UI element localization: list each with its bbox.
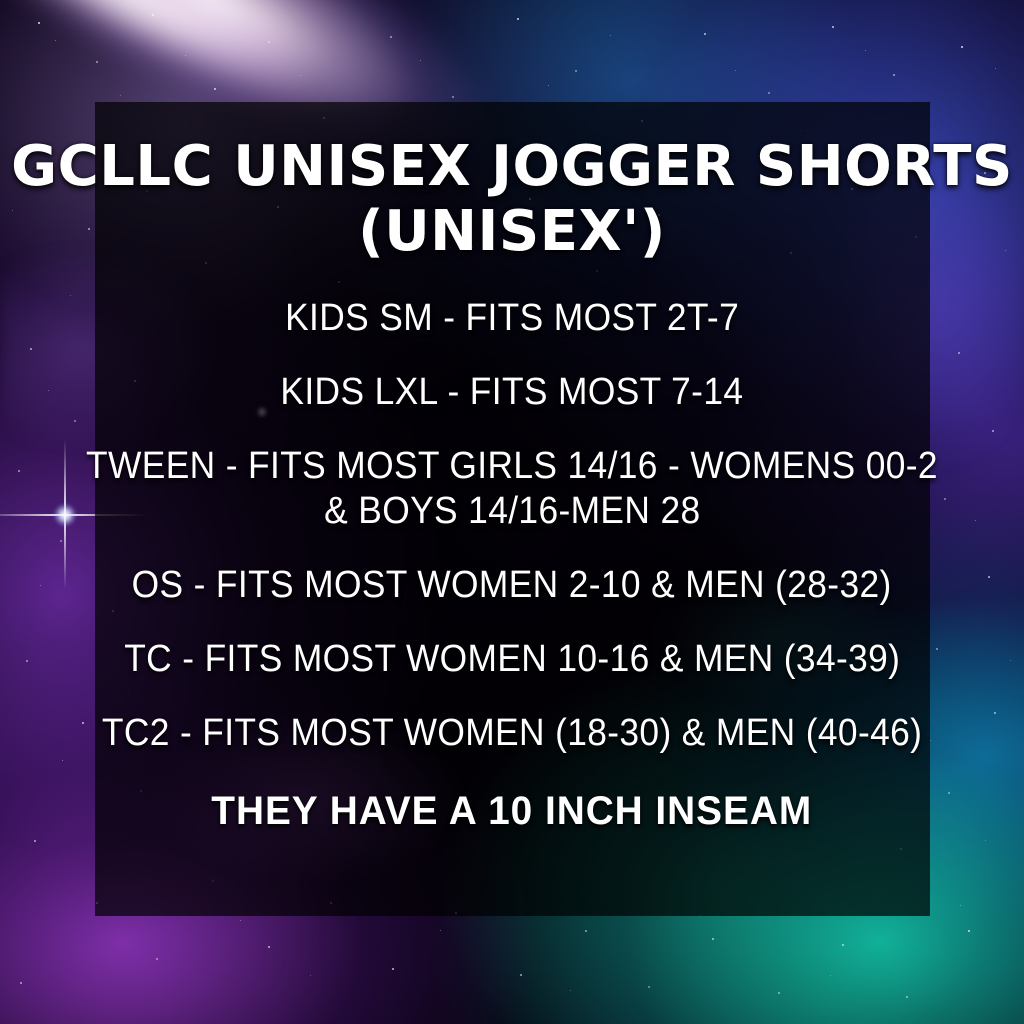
size-line-kids-sm: KIDS SM - FITS MOST 2T-7	[285, 298, 739, 338]
page-subtitle: (UNISEX')	[358, 205, 666, 260]
inseam-note: THEY HAVE A 10 INCH INSEAM	[212, 790, 813, 832]
poster-content: GCLLC UNISEX JOGGER SHORTS (UNISEX') KID…	[0, 0, 1024, 1024]
size-line-kids-lxl: KIDS LXL - FITS MOST 7-14	[281, 372, 744, 412]
size-chart-poster: GCLLC UNISEX JOGGER SHORTS (UNISEX') KID…	[0, 0, 1024, 1024]
page-title: GCLLC UNISEX JOGGER SHORTS	[11, 140, 1013, 195]
size-line-tween: TWEEN - FITS MOST GIRLS 14/16 - WOMENS 0…	[86, 446, 938, 486]
size-line-tc: TC - FITS MOST WOMEN 10-16 & MEN (34-39)	[124, 639, 900, 679]
size-line-os: OS - FITS MOST WOMEN 2-10 & MEN (28-32)	[132, 565, 892, 605]
size-line-tween-continued: & BOYS 14/16-MEN 28	[324, 491, 700, 531]
size-line-tc2: TC2 - FITS MOST WOMEN (18-30) & MEN (40-…	[102, 713, 922, 753]
